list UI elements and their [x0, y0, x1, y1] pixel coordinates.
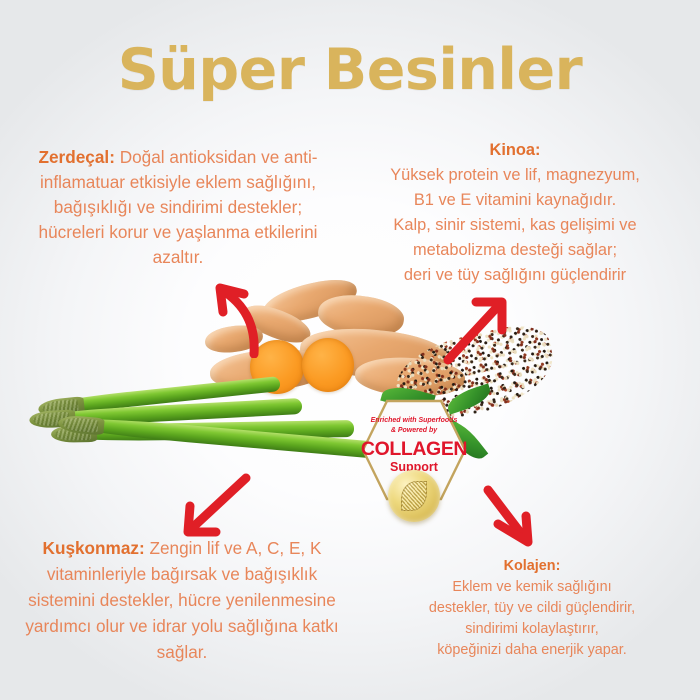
body-kolajen-line-2: sindirimi kolaylaştırır,: [404, 619, 660, 640]
heading-kinoa: Kinoa:: [370, 138, 660, 163]
page-title: Süper Besinler: [0, 42, 700, 99]
body-kinoa-line-4: deri ve tüy sağlığını güçlendirir: [370, 263, 660, 288]
body-kinoa-line-0: Yüksek protein ve lif, magnezyum,: [370, 163, 660, 188]
body-kolajen-line-1: destekler, tüy ve cildi güçlendirir,: [404, 598, 660, 619]
body-zerdecal-line-4: korur ve yaşlanma etkilerini azaltır.: [109, 222, 317, 267]
body-kinoa-line-3: metabolizma desteği sağlar;: [370, 238, 660, 263]
badge-tagline: Enriched with Superfoods & Powered by: [360, 416, 468, 435]
arrow-to-kolajen: [470, 474, 570, 559]
arrow-to-zerdecal: [182, 278, 282, 358]
body-zerdecal-line-0: Doğal antioksidan: [120, 147, 257, 167]
body-kinoa-line-2: Kalp, sinir sistemi, kas gelişimi ve: [370, 213, 660, 238]
badge-tagline-line1: Enriched with Superfoods: [371, 417, 458, 424]
text-block-kolajen: Kolajen: Eklem ve kemik sağlığını destek…: [404, 556, 660, 661]
text-block-kinoa: Kinoa: Yüksek protein ve lif, magnezyum,…: [370, 138, 660, 288]
poster-canvas: Süper Besinler: [0, 0, 700, 700]
heading-zerdecal: Zerdeçal:: [39, 147, 115, 167]
badge-tagline-line2: & Powered by: [391, 427, 437, 434]
gold-medallion-icon: [388, 470, 440, 522]
badge-main-word: COLLAGEN: [360, 438, 468, 461]
arrow-to-kinoa: [438, 288, 538, 368]
body-kuskonmaz-line-1: vitaminleriyle bağırsak ve: [47, 564, 240, 584]
turmeric-slice: [302, 338, 354, 392]
text-block-zerdecal: Zerdeçal: Doğal antioksidan ve anti-infl…: [38, 145, 318, 270]
body-kuskonmaz-line-4: idrar yolu sağlığına katkı sağlar.: [152, 616, 338, 662]
body-kuskonmaz-line-0: Zengin lif ve A, C, E, K: [150, 538, 322, 558]
text-block-kuskonmaz: Kuşkonmaz: Zengin lif ve A, C, E, K vita…: [22, 535, 342, 665]
collagen-support-badge: Enriched with Superfoods & Powered by CO…: [360, 398, 468, 502]
heading-kuskonmaz: Kuşkonmaz:: [43, 538, 145, 558]
body-kinoa-line-1: B1 ve E vitamini kaynağıdır.: [370, 188, 660, 213]
body-kolajen-line-0: Eklem ve kemik sağlığını: [404, 577, 660, 598]
body-kolajen-line-3: köpeğinizi daha enerjik yapar.: [404, 640, 660, 661]
heading-kolajen: Kolajen:: [404, 556, 660, 577]
